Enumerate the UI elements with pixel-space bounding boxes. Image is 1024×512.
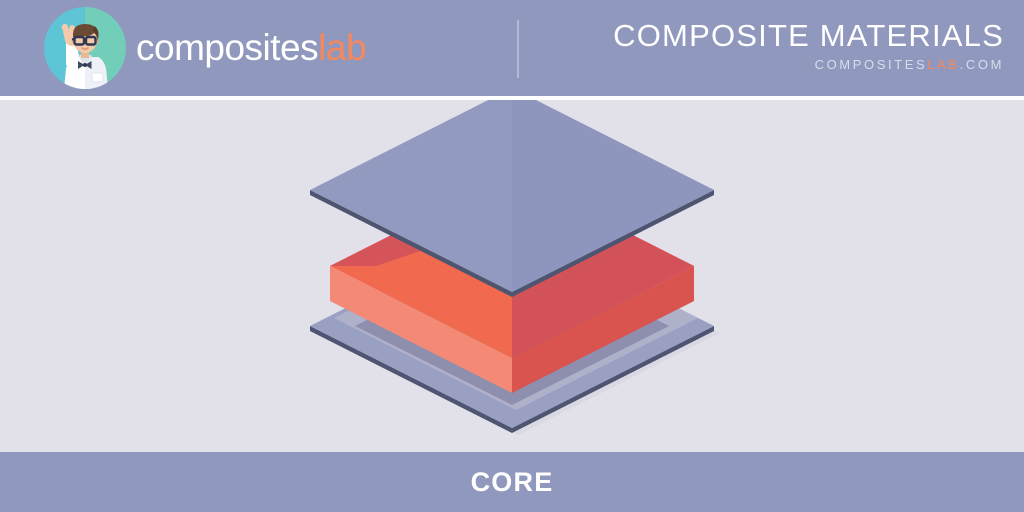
layer-caption: CORE [471, 466, 554, 498]
footer-bar: CORE [0, 452, 1024, 512]
mascot-avatar-icon [44, 7, 126, 89]
screenshot-root: compositeslab COMPOSITE MATERIALS COMPOS… [0, 0, 1024, 512]
illustration-stage [0, 100, 1024, 452]
site-url-label: COMPOSITESLAB.COM [613, 57, 1004, 73]
header-title-block: COMPOSITE MATERIALS COMPOSITESLAB.COM [613, 18, 1004, 73]
header-divider [517, 20, 519, 78]
site-url-accent: LAB [927, 57, 959, 72]
page-title: COMPOSITE MATERIALS [613, 18, 1004, 54]
mascot-figure-icon [44, 7, 126, 89]
site-logo[interactable]: compositeslab [44, 7, 344, 89]
site-url-primary: COMPOSITES [815, 57, 928, 72]
logo-wordmark: compositeslab [136, 26, 366, 70]
wordmark-primary: composites [136, 27, 318, 68]
site-url-suffix: .COM [960, 57, 1004, 72]
wordmark-accent: lab [318, 27, 366, 68]
header-bar: compositeslab COMPOSITE MATERIALS COMPOS… [0, 0, 1024, 96]
exploded-sandwich-panel-diagram [0, 100, 1024, 452]
